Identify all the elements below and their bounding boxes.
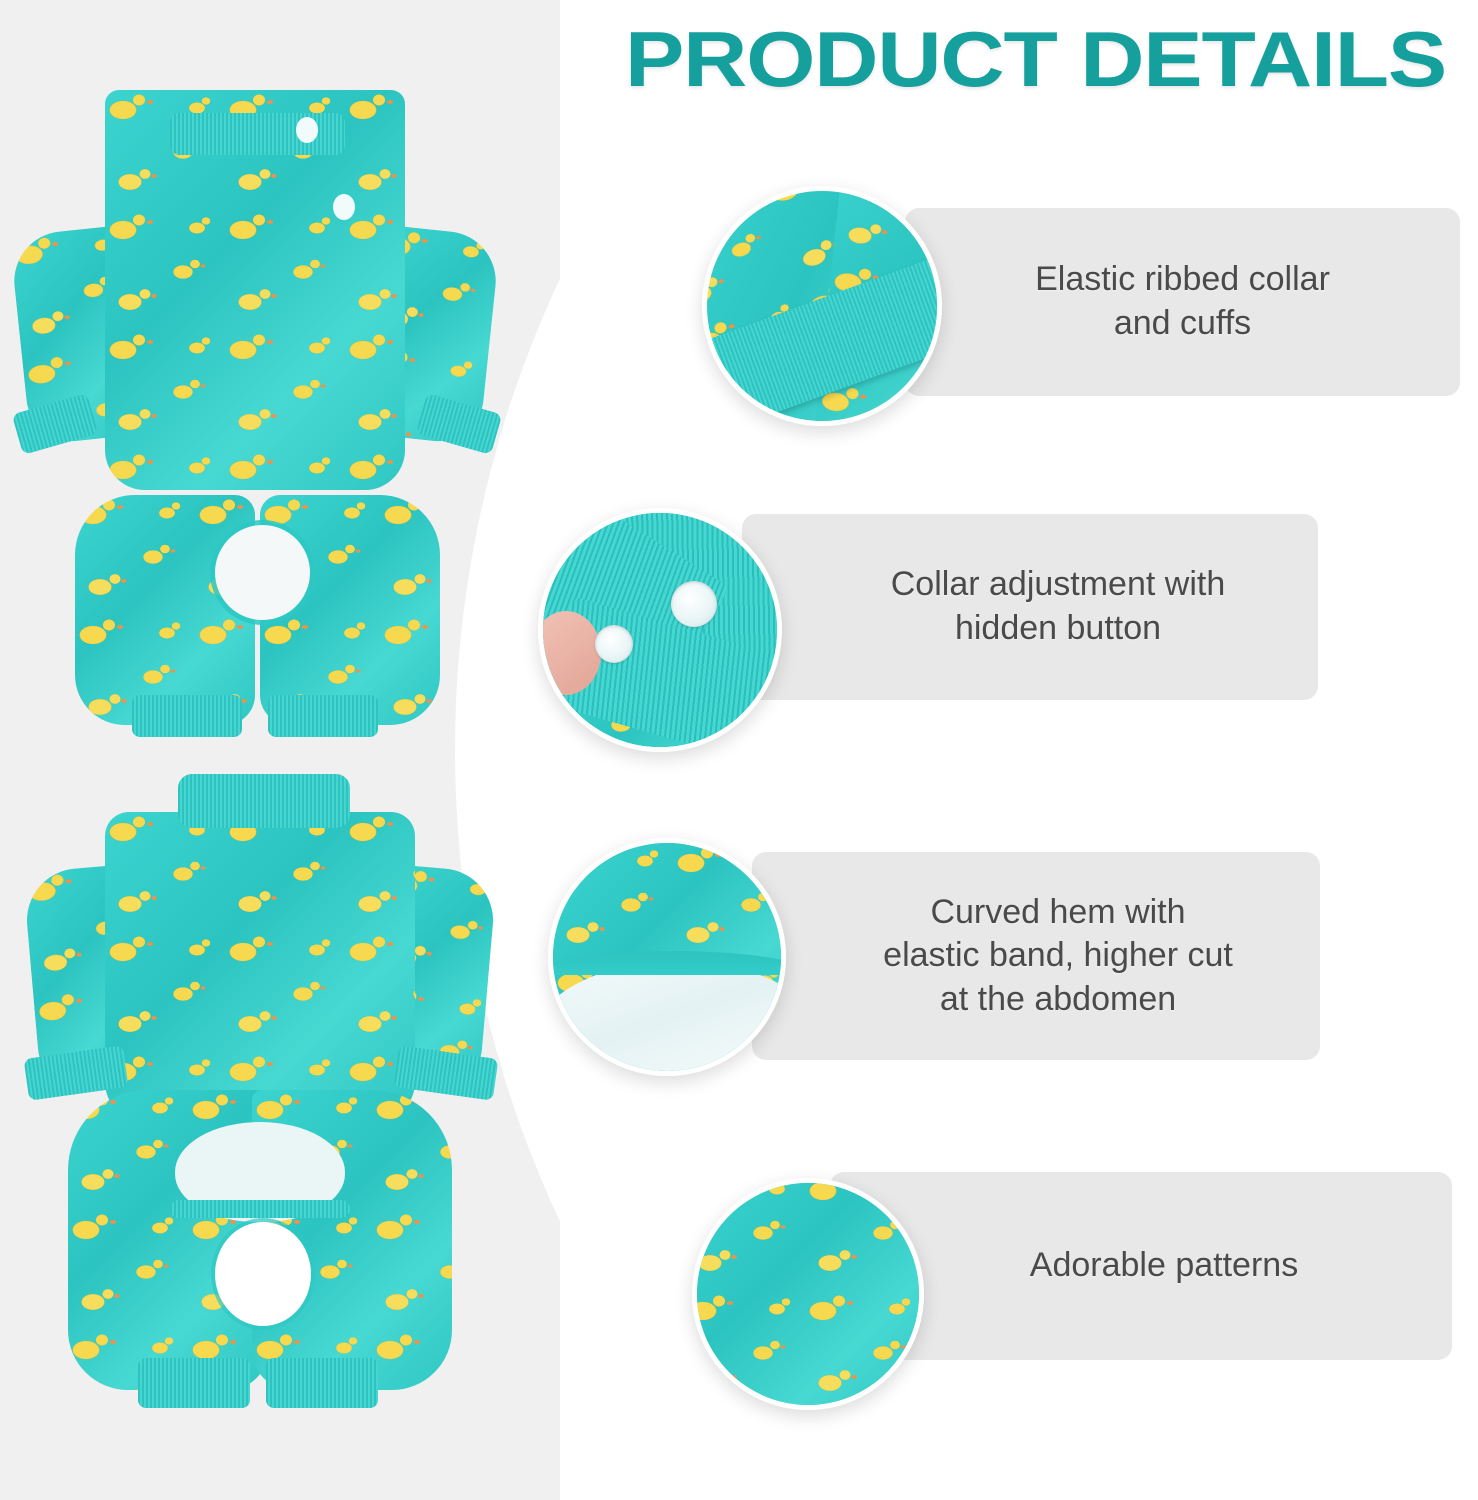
leg-cuff-right	[268, 695, 378, 737]
cuff-right	[416, 393, 503, 455]
white-lining	[548, 961, 786, 1076]
hem-edge	[548, 951, 786, 975]
feature-4-photo	[692, 1178, 924, 1410]
ribbed-collar	[170, 113, 345, 155]
photo-content	[707, 191, 937, 421]
snap-button-lower	[333, 194, 355, 220]
photo-content	[543, 513, 777, 747]
belly-opening	[215, 1222, 311, 1326]
hidden-snap-button-2	[671, 581, 717, 627]
duck-pattern-closeup	[692, 1178, 924, 1410]
product-image-pajama-front-view	[10, 760, 510, 1460]
feature-1-photo	[702, 186, 942, 426]
product-image-column	[0, 0, 520, 1500]
feature-1-label: Elastic ribbed collar and cuffs	[905, 258, 1460, 345]
garment-body	[105, 812, 415, 1122]
product-details-page: PRODUCT DETAILS Elastic ribbed collar an…	[0, 0, 1478, 1500]
hidden-snap-button-1	[595, 625, 633, 663]
snap-button-top	[296, 117, 318, 143]
feature-4-band: Adorable patterns	[830, 1172, 1452, 1360]
elastic-band	[170, 1200, 350, 1218]
feature-3-band: Curved hem with elastic band, higher cut…	[752, 852, 1320, 1060]
feature-1-band: Elastic ribbed collar and cuffs	[905, 208, 1460, 396]
feature-3-label: Curved hem with elastic band, higher cut…	[752, 891, 1320, 1022]
feature-2-label: Collar adjustment with hidden button	[742, 563, 1318, 650]
product-image-pajama-back-view	[10, 55, 510, 715]
feature-3-photo	[548, 838, 786, 1076]
feature-2-band: Collar adjustment with hidden button	[742, 514, 1318, 700]
page-title: PRODUCT DETAILS	[625, 14, 1446, 105]
ribbed-collar	[178, 774, 350, 828]
leg-cuff-left	[132, 695, 242, 737]
leg-cuff-right	[266, 1358, 378, 1408]
photo-content	[553, 843, 781, 1071]
leg-cuff-left	[138, 1358, 250, 1408]
leg-left	[75, 495, 255, 725]
belly-opening	[215, 525, 310, 620]
feature-2-photo	[538, 508, 782, 752]
cuff-left	[12, 393, 99, 455]
photo-content	[697, 1183, 919, 1405]
